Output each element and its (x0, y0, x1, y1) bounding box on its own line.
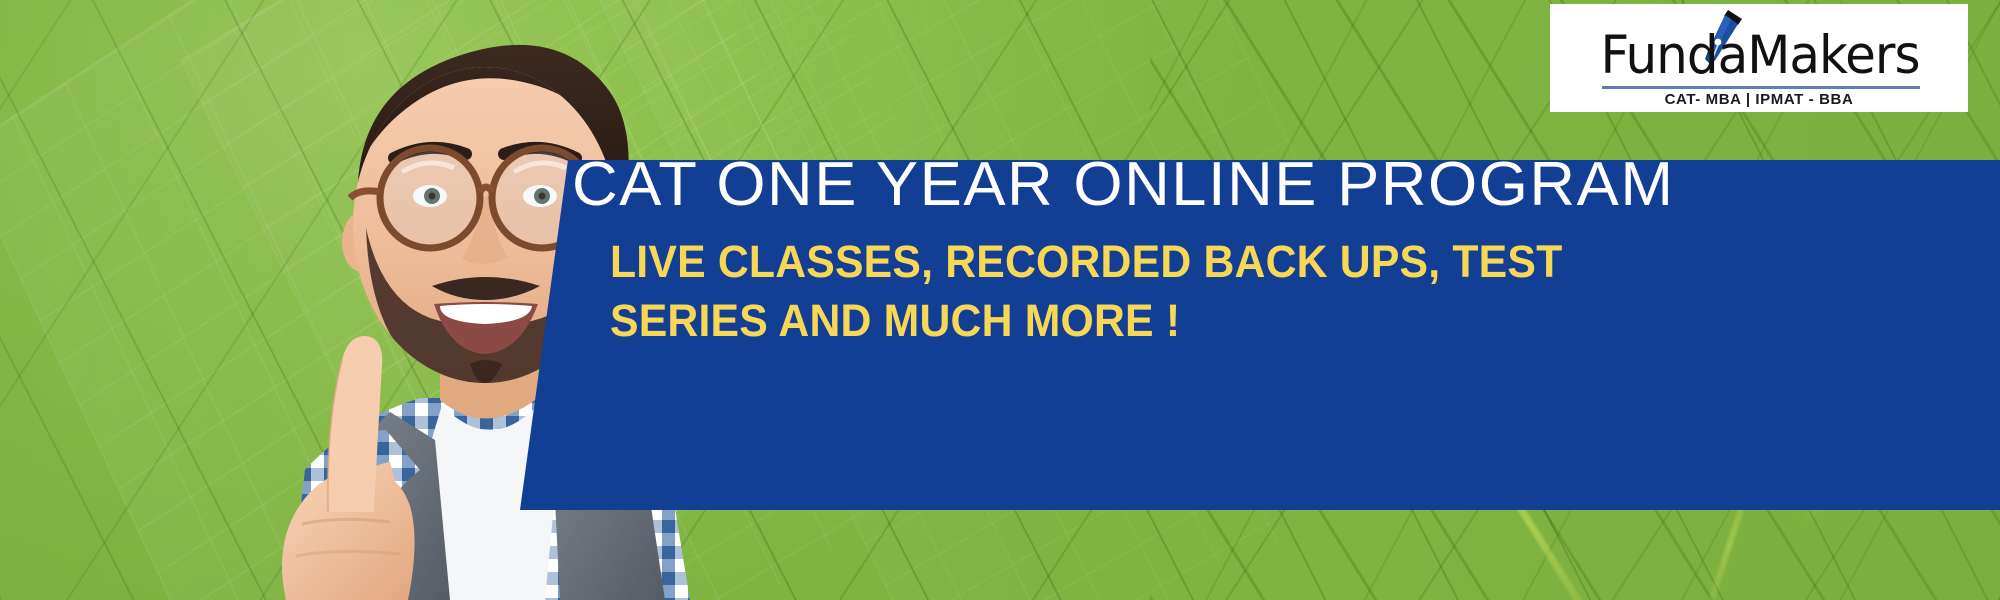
subheadline-line-1: LIVE CLASSES, RECORDED BACK UPS, TEST (610, 233, 1446, 292)
brand-logo[interactable]: FundaMakers CAT- MBA | IPMAT - BBA (1550, 4, 1968, 112)
page-title: CAT ONE YEAR ONLINE PROGRAM (572, 152, 2000, 219)
brand-name: FundaMakers (1570, 25, 1950, 86)
logo-underline (1602, 86, 1920, 89)
subheadline: LIVE CLASSES, RECORDED BACK UPS, TEST SE… (610, 233, 1446, 350)
brand-tagline: CAT- MBA | IPMAT - BBA (1550, 91, 1968, 108)
subheadline-line-2: SERIES AND MUCH MORE ! (610, 292, 1446, 351)
promo-banner: CAT ONE YEAR ONLINE PROGRAM LIVE CLASSES… (0, 0, 2000, 600)
